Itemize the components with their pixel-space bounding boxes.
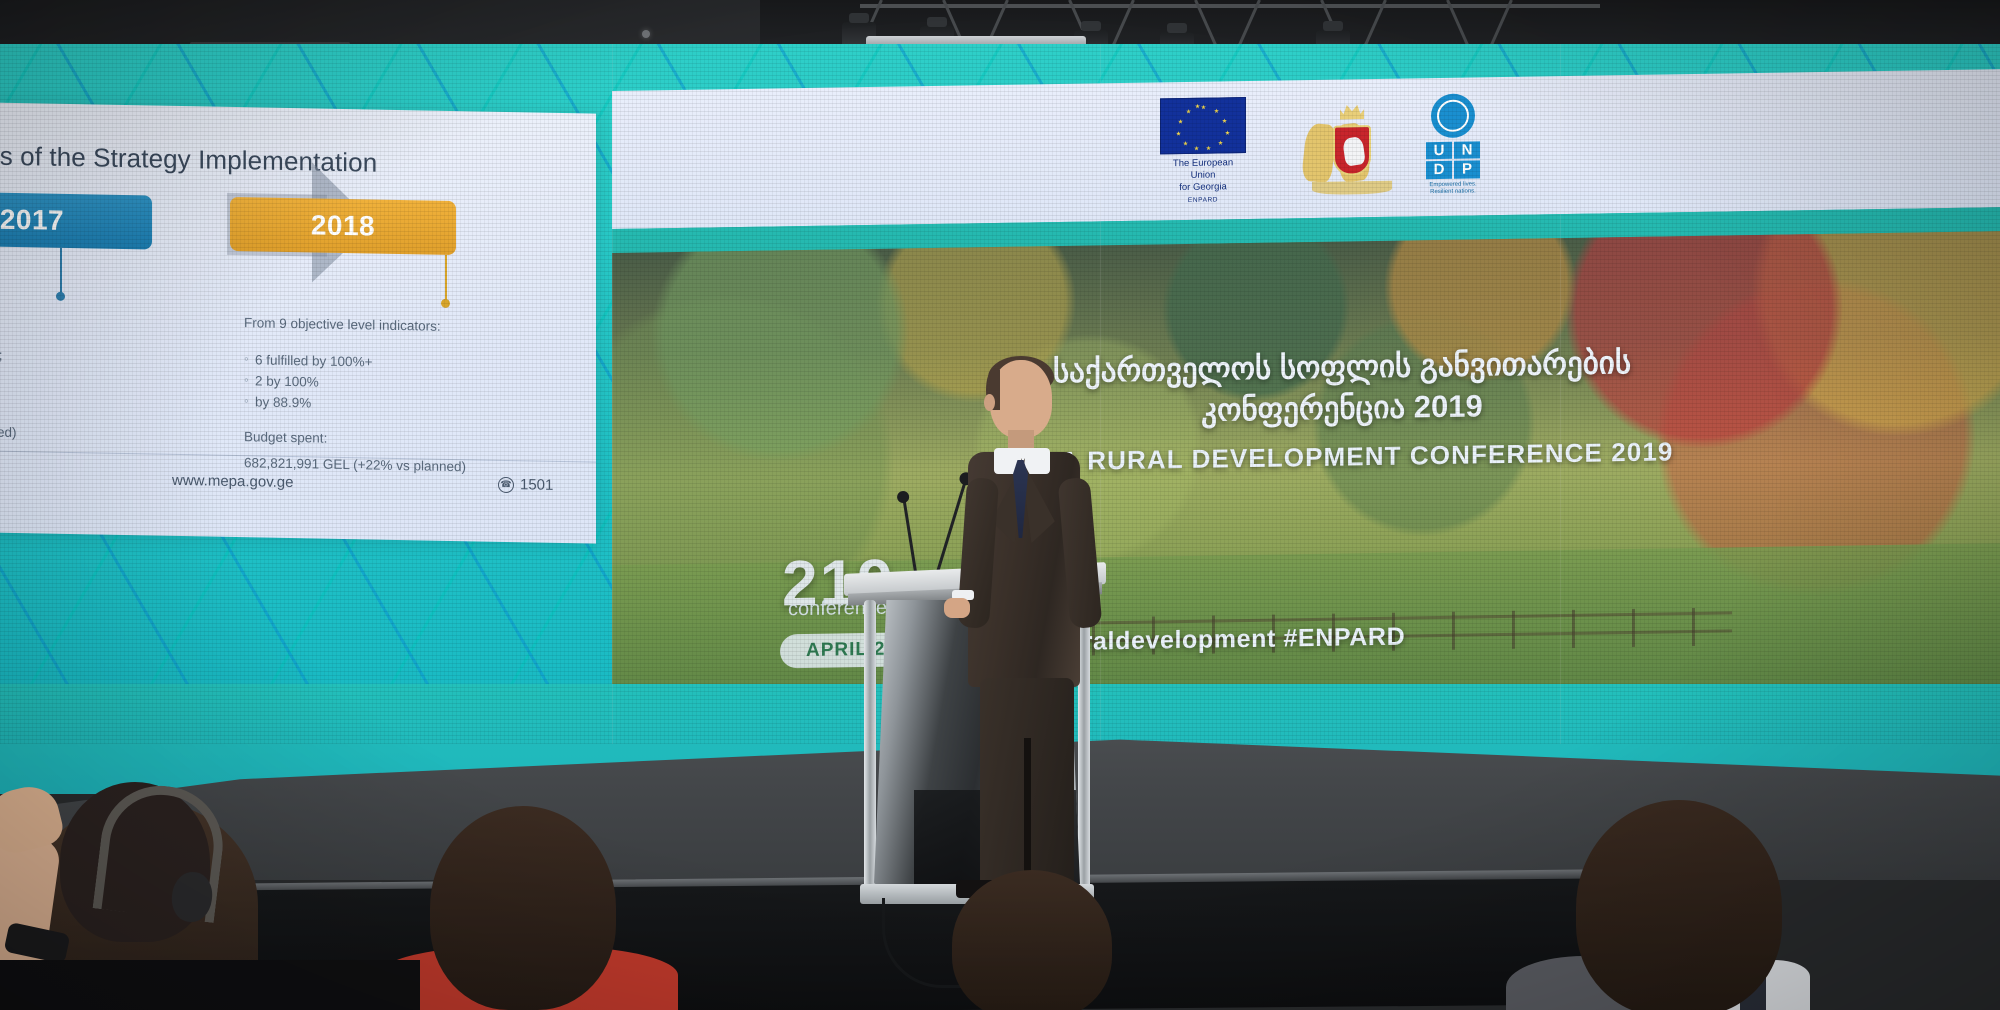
budget-value: GEL (+38.3% vs planned)	[0, 420, 162, 446]
undp-globe-icon	[1431, 93, 1475, 138]
left-presentation-slide: ults of the Strategy Implementation 2017…	[0, 102, 596, 543]
connector-dot-2018	[441, 299, 450, 308]
screenshot-scene: ults of the Strategy Implementation 2017…	[0, 0, 2000, 1010]
speaker-leg-separation	[1024, 738, 1031, 888]
audience-member-3-head	[952, 870, 1112, 1010]
right-column-2018: From 9 objective level indicators: 6 ful…	[244, 313, 564, 479]
speaker-ear	[984, 394, 995, 411]
slide-footer-phone: ☎ 1501	[498, 476, 553, 494]
enpard-label: ENPARD	[1160, 196, 1246, 204]
connector-dot-2017	[56, 292, 65, 301]
motto-ribbon	[1312, 181, 1392, 195]
undp-letters: U N D P	[1426, 141, 1480, 178]
left-column-2017: level indicators: d by 100% or 100%+; d …	[0, 306, 162, 446]
audience-member-4-head	[1576, 800, 1782, 1010]
undp-letter: N	[1454, 141, 1480, 159]
budget-label: Budget spent:	[244, 427, 564, 454]
bullet-list: 6 fulfilled by 100%+ 2 by 100% by 88.9%	[244, 350, 564, 419]
crown-icon	[1340, 101, 1364, 119]
connector-line-2018	[445, 255, 447, 301]
speaker-person	[960, 360, 1100, 910]
lion-supporter-left-icon	[1301, 123, 1337, 183]
eu-caption-line1: The European Union	[1160, 157, 1246, 182]
shield-icon	[1333, 125, 1371, 176]
eu-caption-line2: for Georgia	[1160, 181, 1246, 194]
year-chip-2018: 2018	[230, 197, 456, 255]
led-panel-seam	[612, 44, 613, 744]
foreground-bottom-shadow	[0, 960, 420, 1010]
audience-member-2-head	[430, 806, 616, 1010]
list-item: by 88.9%	[244, 392, 564, 419]
undp-logo: U N D P Empowered lives. Resilient natio…	[1426, 93, 1480, 197]
connector-line-2017	[60, 248, 62, 294]
slide-title: ults of the Strategy Implementation	[0, 140, 572, 182]
banner-header: The European Union for Georgia ENPARD	[612, 69, 2000, 229]
saint-george-rider-icon	[1342, 136, 1366, 167]
speaker-hand	[944, 598, 970, 618]
podium-rail-left	[864, 600, 876, 888]
undp-letter: U	[1426, 142, 1452, 160]
undp-letter: P	[1454, 161, 1480, 179]
slide-footer-url: www.mepa.gov.ge	[172, 472, 293, 491]
logo-row: The European Union for Georgia ENPARD	[1160, 93, 1480, 206]
column-header: level indicators:	[0, 306, 162, 332]
phone-number: 1501	[520, 476, 553, 494]
eu-logo-caption: The European Union for Georgia	[1160, 157, 1246, 194]
georgia-coat-of-arms-logo	[1300, 95, 1372, 214]
conference-banner-slide: The European Union for Georgia ENPARD	[612, 69, 2000, 715]
undp-caption-line2: Resilient nations.	[1426, 189, 1480, 198]
eu-logo: The European Union for Georgia ENPARD	[1160, 97, 1246, 204]
undp-letter: D	[1426, 161, 1452, 179]
phone-icon: ☎	[498, 476, 514, 492]
year-chip-2017: 2017	[0, 191, 152, 249]
led-panel-seam	[1560, 44, 1561, 744]
undp-caption: Empowered lives. Resilient nations.	[1426, 181, 1480, 197]
ceiling-light	[642, 30, 650, 38]
eu-flag-icon	[1160, 97, 1246, 154]
list-item: d by 100% or 100%+;	[0, 343, 162, 369]
bullet-list: d by 100% or 100%+; d partially; lled	[0, 343, 162, 411]
column-header: From 9 objective level indicators:	[244, 313, 564, 340]
